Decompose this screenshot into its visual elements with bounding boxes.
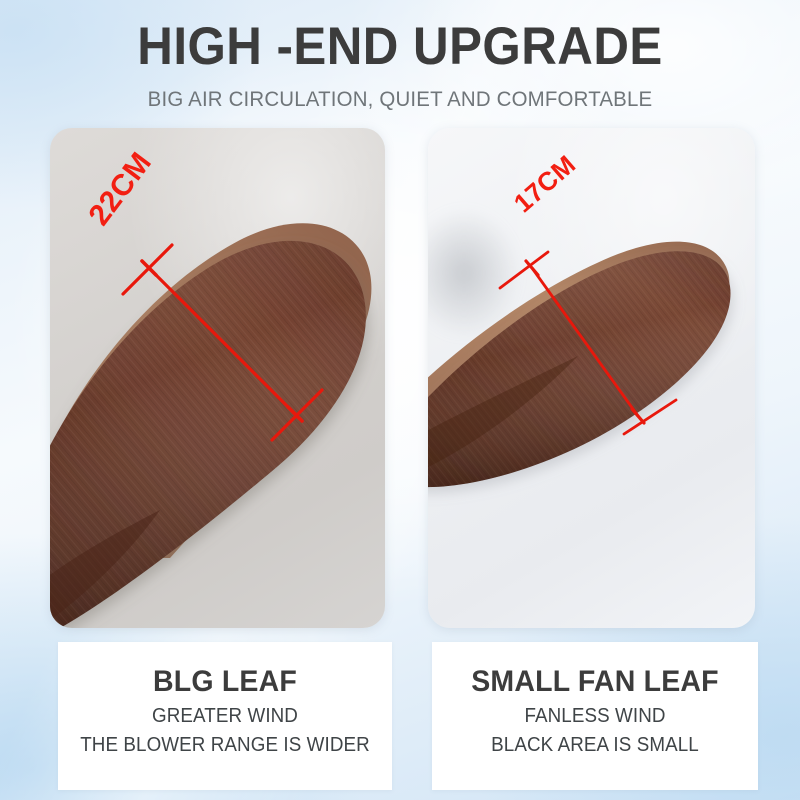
caption-card-left: BLG LEAF GREATER WIND THE BLOWER RANGE I… [58,642,392,790]
page-title: HIGH -END UPGRADE [28,19,772,75]
caption-line2-right: BLACK AREA IS SMALL [442,733,748,757]
caption-title-left: BLG LEAF [66,665,383,699]
page-subtitle: BIG AIR CIRCULATION, QUIET AND COMFORTAB… [20,87,780,111]
comparison-panel-right [428,128,755,628]
caption-card-right: SMALL FAN LEAF FANLESS WIND BLACK AREA I… [432,642,758,790]
caption-line1-left: GREATER WIND [68,704,382,728]
small-fan-blade-image [428,128,755,628]
caption-line1-right: FANLESS WIND [442,704,748,728]
caption-line2-left: THE BLOWER RANGE IS WIDER [68,733,382,757]
caption-title-right: SMALL FAN LEAF [440,665,750,699]
header: HIGH -END UPGRADE BIG AIR CIRCULATION, Q… [0,0,800,124]
